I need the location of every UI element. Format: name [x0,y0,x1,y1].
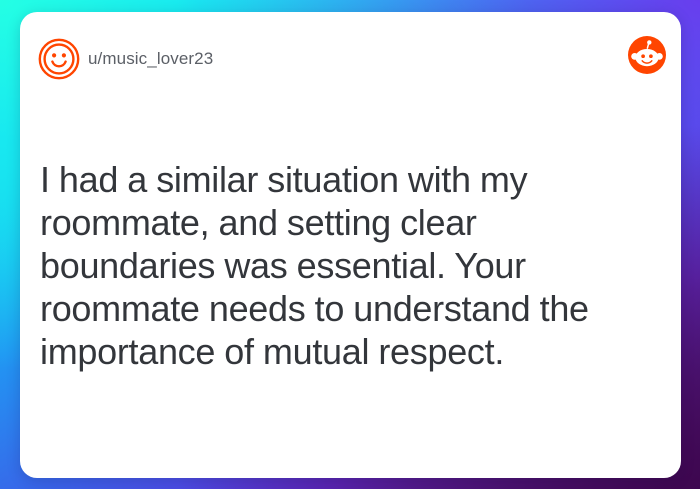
screenshot-canvas: u/music_lover23 [0,0,700,489]
comment-text: I had a similar situation with my roomma… [40,158,640,373]
username-label: u/music_lover23 [88,48,213,70]
reddit-comment-card: u/music_lover23 [20,12,681,478]
card-header: u/music_lover23 [20,12,681,108]
smiley-face-icon[interactable] [38,38,80,80]
reddit-snoo-icon[interactable] [627,35,667,75]
